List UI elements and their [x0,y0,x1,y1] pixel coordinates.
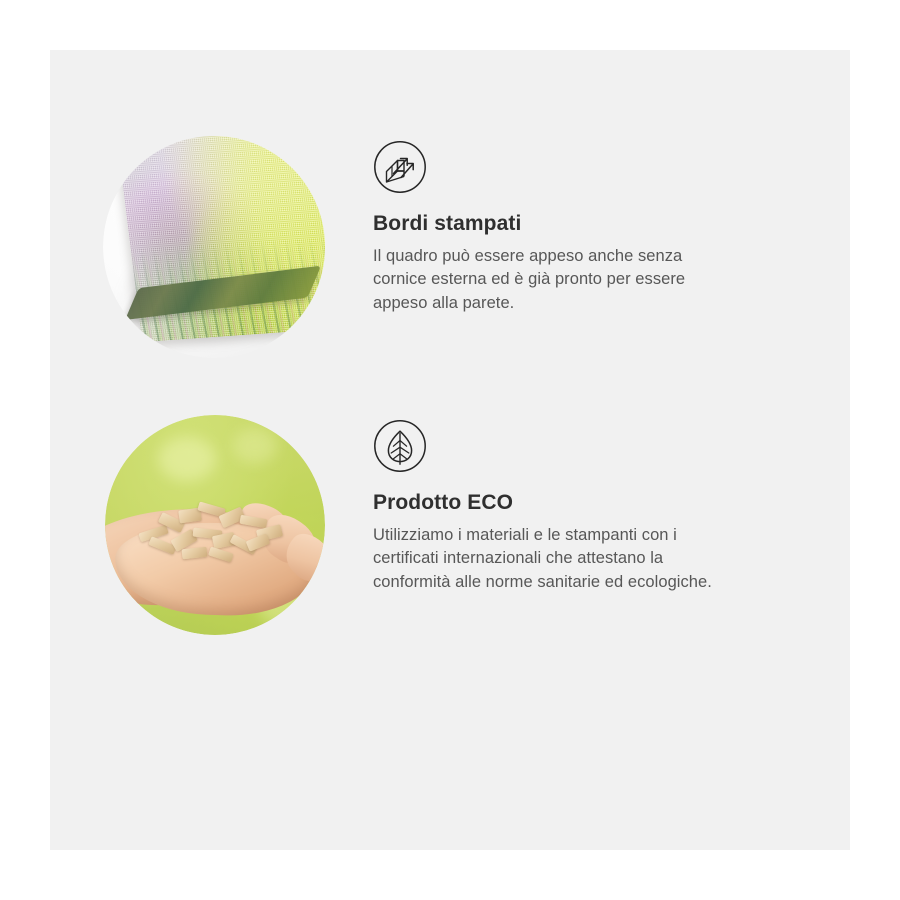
canvas-wrapped-edge-icon [373,140,427,194]
feature-title: Bordi stampati [373,212,735,236]
bokeh-highlight [233,428,277,464]
bokeh-highlight [158,437,216,481]
feature-text-column: Prodotto ECO Utilizziamo i materiali e l… [373,415,735,594]
hands-holding-wood-chips-photo [105,415,325,635]
canvas-print-corner-photo [103,136,325,358]
wood-chips-pile [132,500,301,566]
feature-text-column: Bordi stampati Il quadro può essere appe… [373,136,735,315]
feature-description: Il quadro può essere appeso anche senza … [373,245,735,315]
cupped-hands [105,490,325,618]
product-feature-infographic: Bordi stampati Il quadro può essere appe… [0,0,900,900]
feature-eco-product: Prodotto ECO Utilizziamo i materiali e l… [105,415,735,635]
feature-title: Prodotto ECO [373,491,735,515]
leaf-icon [373,419,427,473]
eco-photo-background [105,415,325,635]
canvas-block [129,136,325,336]
feature-description: Utilizziamo i materiali e le stampanti c… [373,524,735,594]
feature-printed-edges: Bordi stampati Il quadro può essere appe… [103,136,735,358]
